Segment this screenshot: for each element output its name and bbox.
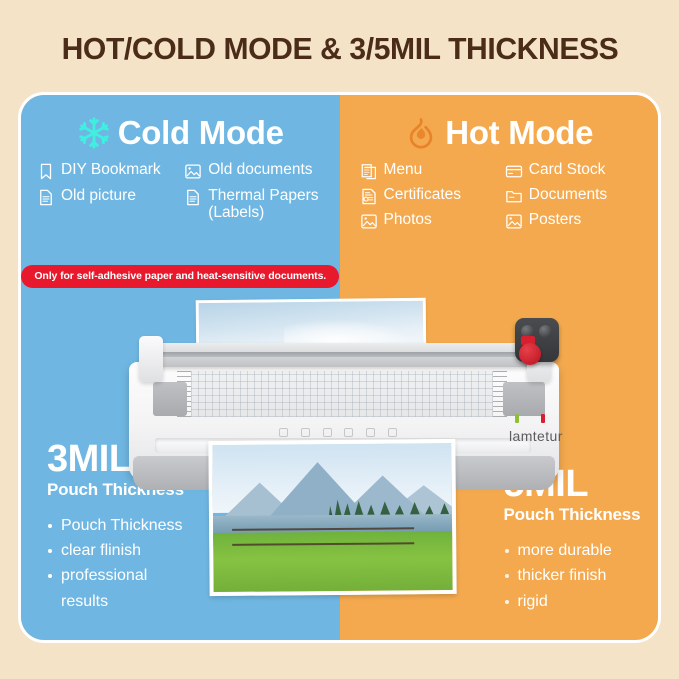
hot-mode-heading: Hot Mode — [340, 95, 659, 153]
feature-label: Documents — [529, 186, 607, 204]
feature-label: Thermal Papers (Labels) — [208, 187, 327, 221]
cold-mode-section: Cold Mode DIY Bookmark Old documents — [21, 95, 340, 640]
feature-item: Card Stock — [505, 161, 646, 181]
feature-label: Menu — [384, 161, 423, 179]
flame-icon — [404, 116, 438, 150]
feature-label: Card Stock — [529, 161, 606, 179]
list-item: thicker finish — [504, 563, 651, 588]
feature-item: Menu — [360, 161, 501, 181]
comparison-panel: Cold Mode DIY Bookmark Old documents — [18, 92, 661, 643]
feature-item: Thermal Papers (Labels) — [184, 187, 327, 221]
list-item: rigid — [504, 589, 651, 614]
card-icon — [505, 162, 523, 181]
page-header: HOT/COLD MODE & 3/5MIL THICKNESS — [0, 0, 679, 92]
list-item: professional results — [47, 563, 194, 614]
feature-item: DIY Bookmark — [37, 161, 180, 181]
hot-mode-title: Hot Mode — [445, 114, 593, 152]
feature-item: Photos — [360, 211, 501, 231]
thickness-benefits-list: more durable thicker finish rigid — [504, 538, 651, 614]
feature-item: Certificates — [360, 186, 501, 206]
feature-label: Certificates — [384, 186, 462, 204]
document-icon — [37, 188, 55, 207]
feature-label: Old picture — [61, 187, 136, 205]
image-icon — [360, 212, 378, 231]
image-icon — [505, 212, 523, 231]
list-item: more durable — [504, 538, 651, 563]
feature-label: Photos — [384, 211, 432, 229]
menu-document-icon — [360, 162, 378, 181]
thickness-subtitle: Pouch Thickness — [504, 505, 651, 525]
thickness-value: 5MIL — [504, 465, 651, 503]
thickness-3mil-block: 3MIL Pouch Thickness Pouch Thickness cle… — [47, 440, 194, 614]
cold-mode-notice-wrap: Only for self-adhesive paper and heat-se… — [21, 265, 340, 288]
snowflake-icon — [77, 116, 111, 150]
document-icon — [184, 188, 202, 207]
feature-item: Documents — [505, 186, 646, 206]
cold-mode-title: Cold Mode — [118, 114, 284, 152]
list-item: Pouch Thickness — [47, 513, 194, 538]
cold-mode-notice: Only for self-adhesive paper and heat-se… — [21, 265, 339, 288]
feature-item: Old documents — [184, 161, 327, 181]
feature-label: Posters — [529, 211, 582, 229]
feature-label: DIY Bookmark — [61, 161, 161, 179]
thickness-value: 3MIL — [47, 440, 194, 478]
feature-item: Old picture — [37, 187, 180, 221]
hot-mode-section: Hot Mode Menu — [340, 95, 659, 640]
image-icon — [184, 162, 202, 181]
list-item: clear flinish — [47, 538, 194, 563]
folder-icon — [505, 187, 523, 206]
cold-mode-heading: Cold Mode — [21, 95, 340, 153]
thickness-5mil-block: 5MIL Pouch Thickness more durable thicke… — [482, 465, 651, 614]
hot-mode-feature-list: Menu Card Stock — [340, 153, 659, 231]
thickness-subtitle: Pouch Thickness — [47, 480, 194, 500]
page-title: HOT/COLD MODE & 3/5MIL THICKNESS — [61, 31, 618, 67]
certificate-icon — [360, 187, 378, 206]
cold-mode-feature-list: DIY Bookmark Old documents — [21, 153, 340, 221]
feature-item: Posters — [505, 211, 646, 231]
thickness-benefits-list: Pouch Thickness clear flinish profession… — [47, 513, 194, 614]
bookmark-icon — [37, 162, 55, 181]
feature-label: Old documents — [208, 161, 312, 179]
